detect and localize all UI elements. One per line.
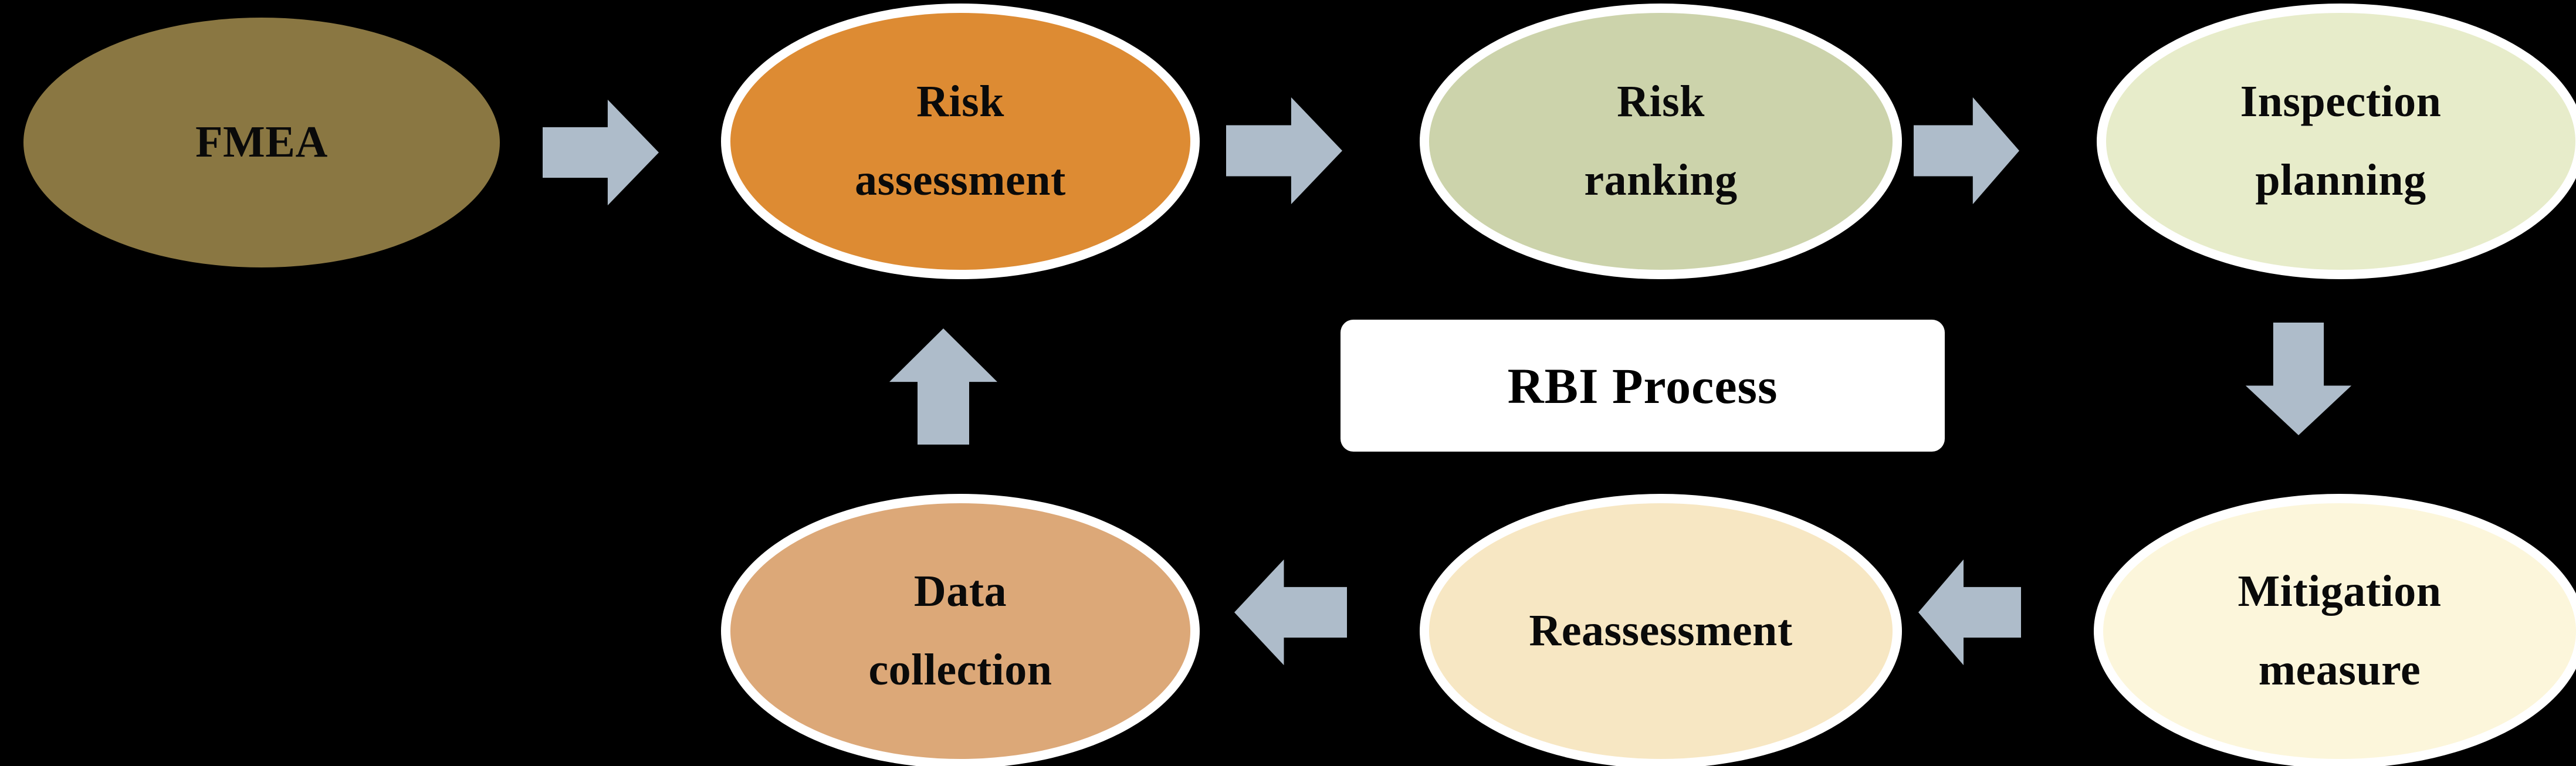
arrow-down-inspection-planning-to-mitigation-measure	[2241, 323, 2356, 435]
arrow-right-fmea-to-risk-assessment	[543, 95, 659, 210]
node-mitigation-measure-label-line1: Mitigation	[2238, 560, 2442, 623]
node-inspection-planning-label-line1: Inspection	[2240, 70, 2442, 134]
node-risk-assessment-label-line1: Risk	[916, 70, 1004, 134]
node-data-collection-label-line1: Data	[914, 560, 1007, 623]
node-risk-assessment-label-line2: assessment	[855, 149, 1066, 212]
rbi-process-diagram: FMEA Risk assessment Risk ranking Inspec…	[0, 0, 2576, 766]
node-data-collection[interactable]: Data collection	[730, 503, 1190, 759]
node-inspection-planning[interactable]: Inspection planning	[2106, 13, 2575, 270]
node-fmea-label: FMEA	[195, 111, 328, 174]
node-reassessment-label: Reassessment	[1529, 599, 1792, 663]
node-risk-ranking-label-line2: ranking	[1584, 149, 1737, 212]
node-mitigation-measure-label-line2: measure	[2259, 639, 2421, 702]
rbi-process-title: RBI Process	[1341, 320, 1945, 452]
arrow-up-data-collection-to-risk-assessment	[885, 328, 1002, 445]
arrow-left-mitigation-measure-to-reassessment	[1918, 555, 2021, 670]
rbi-process-title-text: RBI Process	[1508, 357, 1778, 415]
arrow-right-risk-assessment-to-risk-ranking	[1226, 93, 1342, 209]
node-data-collection-label-line2: collection	[868, 639, 1052, 702]
node-inspection-planning-label-line2: planning	[2255, 149, 2426, 212]
node-fmea[interactable]: FMEA	[23, 18, 500, 267]
node-risk-ranking-label-line1: Risk	[1617, 70, 1705, 134]
node-reassessment[interactable]: Reassessment	[1429, 503, 1893, 759]
arrow-left-reassessment-to-data-collection	[1234, 555, 1347, 670]
node-risk-ranking[interactable]: Risk ranking	[1429, 13, 1893, 270]
node-risk-assessment[interactable]: Risk assessment	[730, 13, 1190, 270]
node-mitigation-measure[interactable]: Mitigation measure	[2103, 503, 2576, 759]
arrow-right-risk-ranking-to-inspection-planning	[1914, 93, 2019, 209]
